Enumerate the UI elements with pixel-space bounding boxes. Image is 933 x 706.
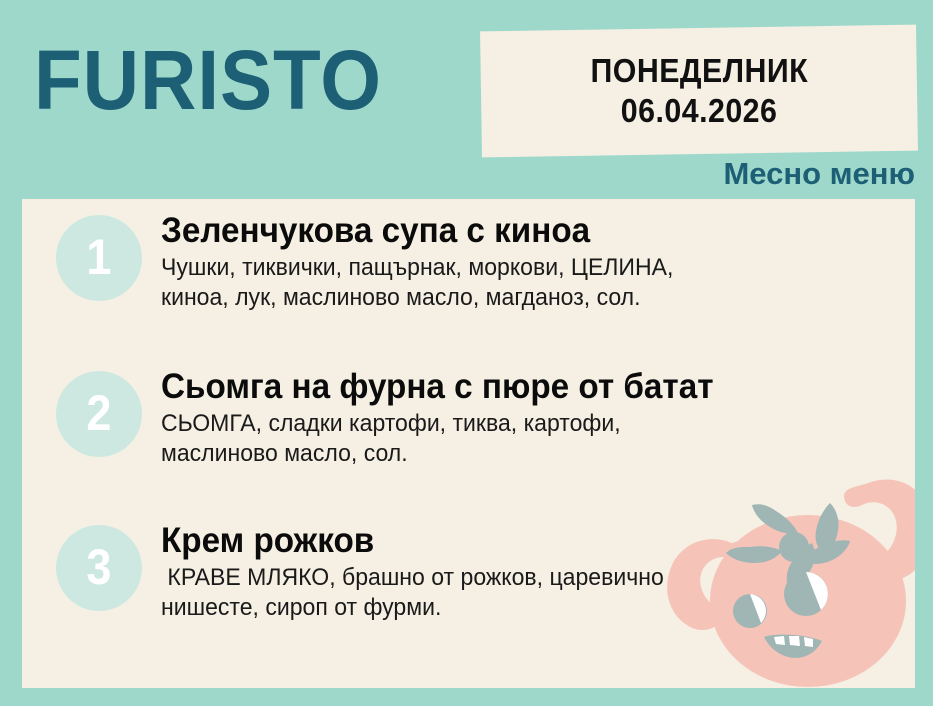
dish-ingredients: СЬОМГА, сладки картофи, тиква, картофи, … xyxy=(161,409,833,469)
date-card-inner: ПОНЕДЕЛНИК 06.04.2026 xyxy=(481,28,917,154)
menu-poster: FURISTO ПОНЕДЕЛНИК 06.04.2026 Месно меню xyxy=(0,0,933,706)
brand-logo: FURISTO xyxy=(34,38,382,122)
dish-number: 2 xyxy=(86,388,111,438)
date-label: 06.04.2026 xyxy=(621,91,778,131)
dish-number-badge: 3 xyxy=(56,525,142,611)
dish-number: 1 xyxy=(86,232,111,282)
dish-title: Крем рожков xyxy=(161,521,826,560)
menu-card: 1 Зеленчукова супа с киноа Чушки, тиквич… xyxy=(22,199,915,688)
weekday-label: ПОНЕДЕЛНИК xyxy=(590,51,808,91)
date-card: ПОНЕДЕЛНИК 06.04.2026 xyxy=(480,25,918,158)
dish-number: 3 xyxy=(86,542,111,592)
dish-ingredients: КРАВЕ МЛЯКО, брашно от рожков, царевично… xyxy=(161,563,833,623)
dish-list: 1 Зеленчукова супа с киноа Чушки, тиквич… xyxy=(22,199,915,688)
dish-text-block: Сьомга на фурна с пюре от батат СЬОМГА, … xyxy=(161,367,861,470)
dish-number-badge: 1 xyxy=(56,215,142,301)
menu-kind-label: Месно меню xyxy=(723,158,915,189)
dish-text-block: Крем рожков КРАВЕ МЛЯКО, брашно от рожко… xyxy=(161,521,861,624)
dish-title: Зеленчукова супа с киноа xyxy=(161,211,826,250)
dish-text-block: Зеленчукова супа с киноа Чушки, тиквички… xyxy=(161,211,861,314)
dish-number-badge: 2 xyxy=(56,371,142,457)
poster-header: FURISTO ПОНЕДЕЛНИК 06.04.2026 Месно меню xyxy=(0,0,933,199)
dish-title: Сьомга на фурна с пюре от батат xyxy=(161,367,826,406)
dish-ingredients: Чушки, тиквички, пащърнак, моркови, ЦЕЛИ… xyxy=(161,253,833,313)
